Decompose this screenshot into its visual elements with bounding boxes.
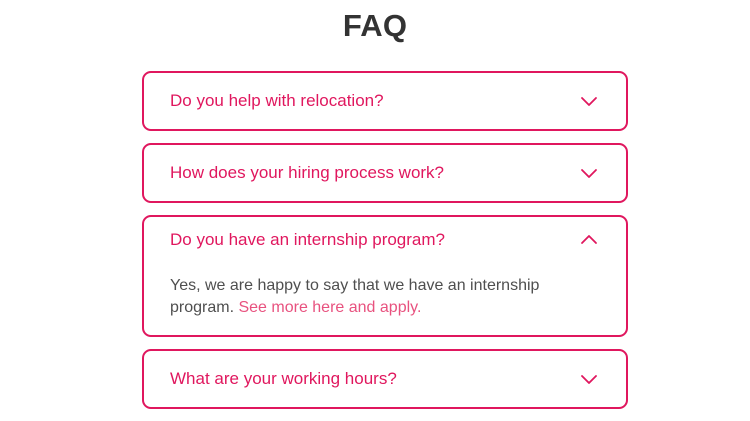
faq-question-label: What are your working hours? [170,368,397,390]
faq-page: FAQ Do you help with relocation? How doe… [0,0,750,400]
chevron-up-icon[interactable] [578,229,600,251]
chevron-down-icon[interactable] [578,368,600,390]
faq-item-header[interactable]: How does your hiring process work? [170,145,600,201]
faq-item[interactable]: What are your working hours? [142,349,628,409]
faq-answer: Yes, we are happy to say that we have an… [170,275,574,335]
faq-item[interactable]: How does your hiring process work? [142,143,628,203]
chevron-down-icon[interactable] [578,90,600,112]
faq-question-label: Do you help with relocation? [170,90,384,112]
faq-question-label: Do you have an internship program? [170,229,445,251]
faq-accordion-list: Do you help with relocation? How does yo… [142,71,628,421]
faq-item-header[interactable]: What are your working hours? [170,351,600,407]
chevron-down-icon[interactable] [578,162,600,184]
faq-answer-link[interactable]: See more here and apply. [238,299,421,316]
faq-item-expanded[interactable]: Do you have an internship program? Yes, … [142,215,628,337]
faq-item-header[interactable]: Do you have an internship program? [170,217,600,277]
faq-question-label: How does your hiring process work? [170,162,444,184]
faq-item[interactable]: Do you help with relocation? [142,71,628,131]
page-title: FAQ [0,8,750,44]
faq-item-header[interactable]: Do you help with relocation? [170,73,600,129]
